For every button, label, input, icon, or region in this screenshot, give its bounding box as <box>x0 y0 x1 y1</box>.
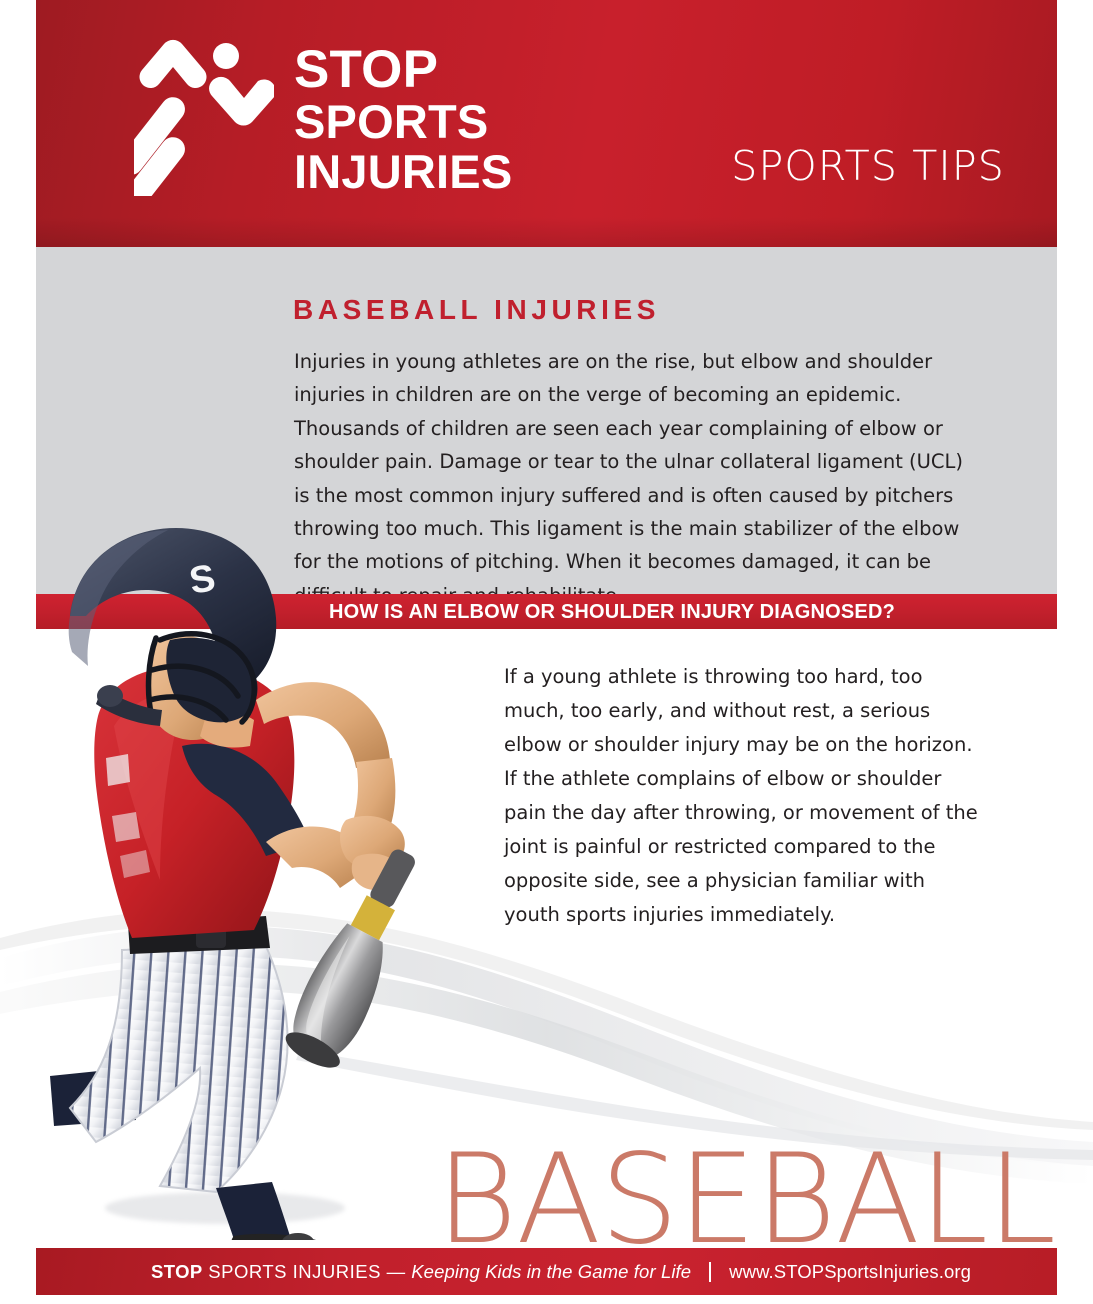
footer-url[interactable]: www.STOPSportsInjuries.org <box>729 1261 971 1282</box>
logo-wordmark: STOP SPORTS INJURIES <box>294 44 512 196</box>
footer-divider <box>709 1262 711 1282</box>
diagnosis-paragraph: If a young athlete is throwing too hard,… <box>504 660 980 932</box>
baseball-player-photo: S <box>10 520 480 1240</box>
logo-line-sports: SPORTS <box>294 99 512 146</box>
page-title: BASEBALL INJURIES <box>293 294 660 326</box>
logo-line-injuries: INJURIES <box>294 149 512 196</box>
footer-stop-word: STOP <box>151 1261 203 1282</box>
footer-content: STOP SPORTS INJURIES — Keeping Kids in t… <box>151 1261 971 1283</box>
series-title: SPORTS TIPS <box>731 142 1005 190</box>
sports-tips-flyer: STOP SPORTS INJURIES SPORTS TIPS BASEBAL… <box>0 0 1093 1304</box>
footer-tagline: Keeping Kids in the Game for Life <box>411 1261 691 1282</box>
running-figure-logo-icon <box>134 18 274 196</box>
page-footer: STOP SPORTS INJURIES — Keeping Kids in t… <box>36 1248 1057 1295</box>
footer-brand-word: SPORTS INJURIES — <box>203 1261 412 1282</box>
sport-wordmark: BASEBALL <box>436 1138 1055 1262</box>
logo-line-stop: STOP <box>294 44 512 96</box>
page-header: STOP SPORTS INJURIES SPORTS TIPS <box>36 0 1057 247</box>
